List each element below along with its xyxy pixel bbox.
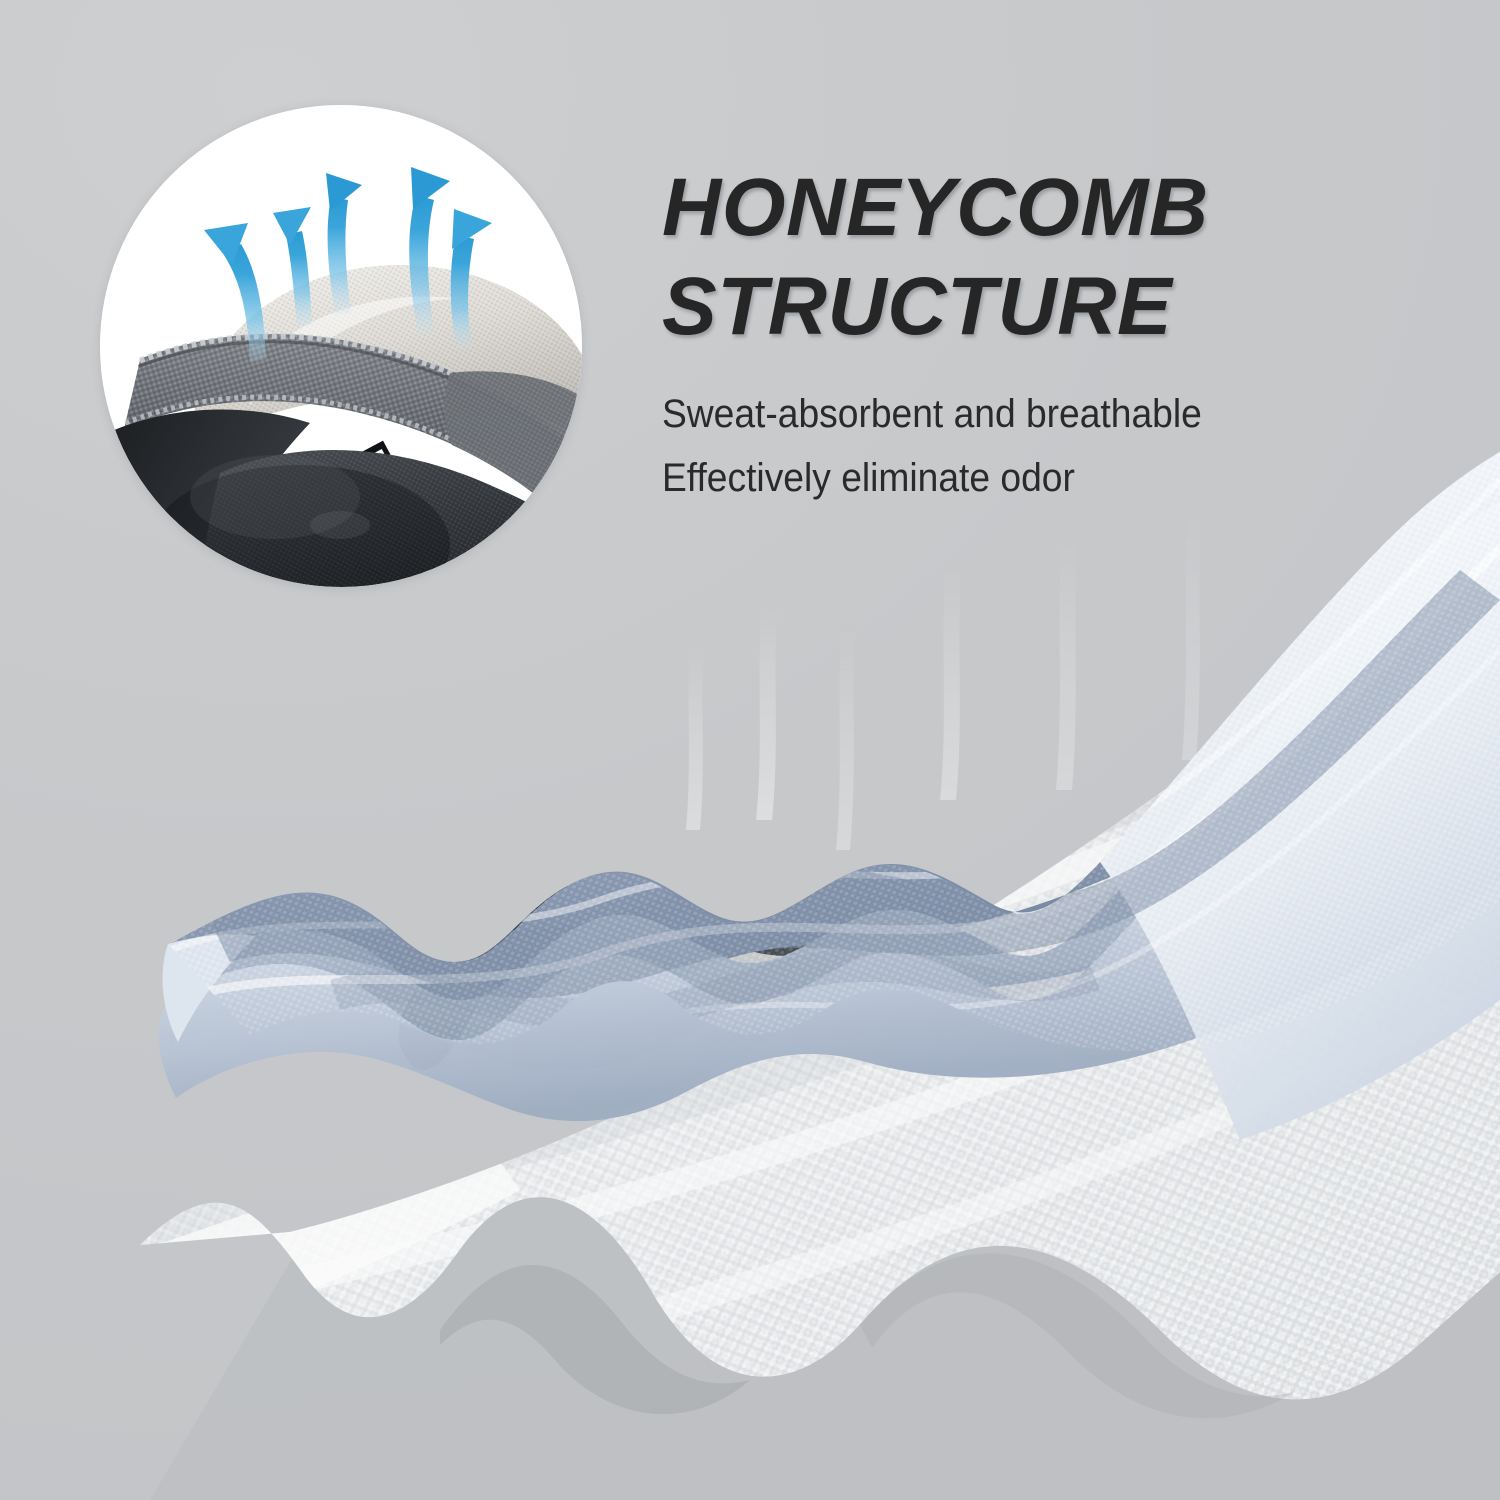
feature-graphic-canvas: BAMBO — [0, 0, 1500, 1500]
subtitle-line2: Effectively eliminate odor — [662, 446, 1304, 510]
feature-text-block: HONEYCOMB STRUCTURE Sweat-absorbent and … — [662, 158, 1352, 510]
page-title-line2: STRUCTURE — [662, 257, 1352, 356]
airflow-arrow-3 — [326, 173, 362, 315]
rising-vapor-wisps — [686, 500, 1202, 850]
product-closeup-inset: BAMBO — [100, 105, 582, 587]
airflow-arrow-2 — [273, 207, 312, 327]
feature-subtitle: Sweat-absorbent and breathable Effective… — [662, 382, 1352, 510]
airflow-arrows — [100, 105, 582, 587]
airflow-arrow-1 — [204, 223, 266, 363]
airflow-arrow-5 — [451, 209, 492, 349]
subtitle-line1: Sweat-absorbent and breathable — [662, 382, 1304, 446]
page-title-line1: HONEYCOMB — [662, 158, 1352, 257]
airflow-arrow-4 — [409, 167, 450, 335]
